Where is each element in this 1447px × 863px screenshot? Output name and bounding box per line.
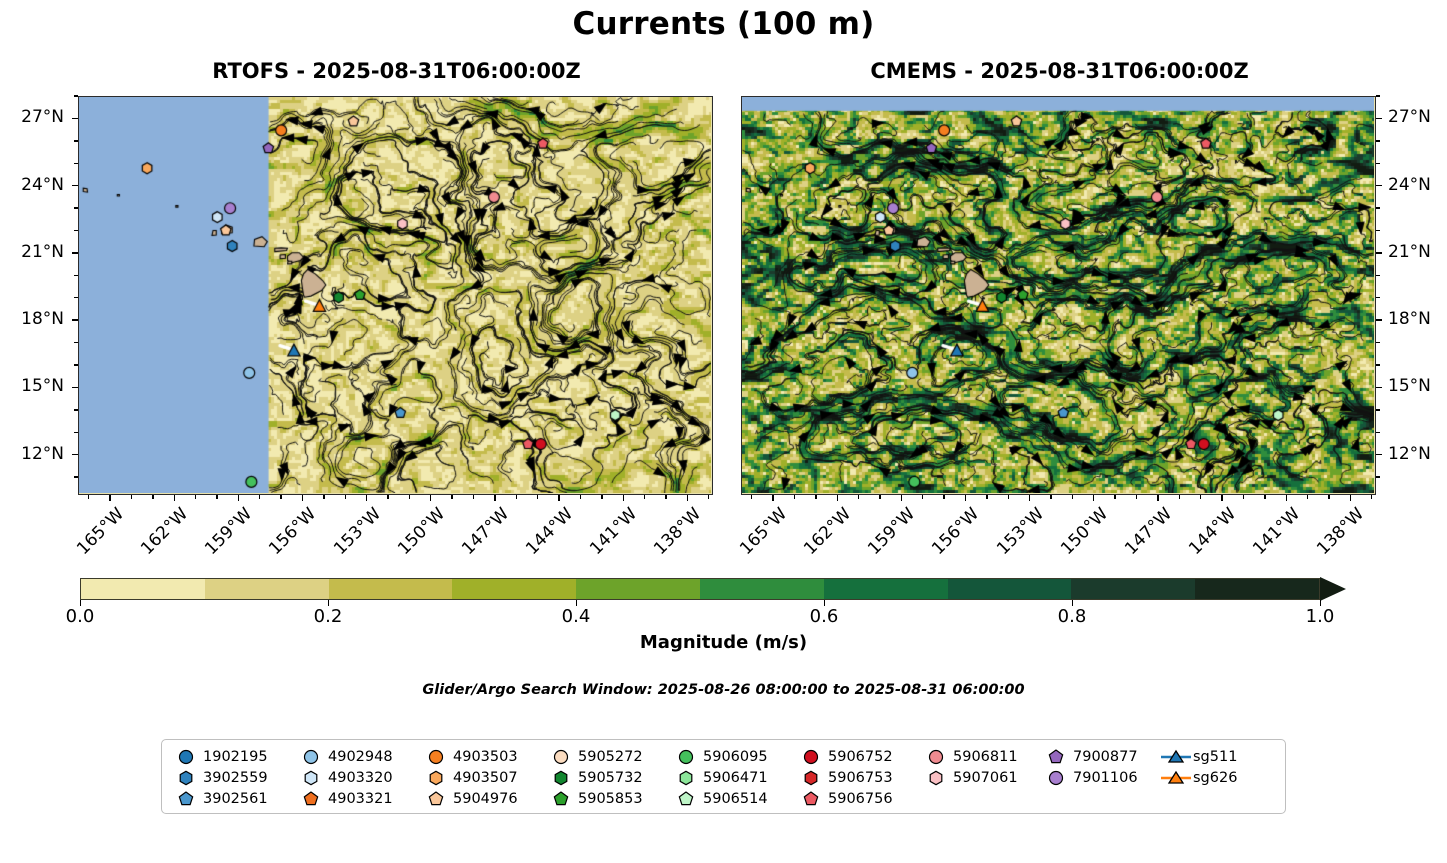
legend-marker-icon bbox=[1159, 767, 1193, 788]
x-tick-label: 159°W bbox=[187, 504, 256, 573]
legend-item-label: 5906514 bbox=[703, 791, 768, 807]
legend-column: 590527259057325905853 bbox=[544, 746, 669, 809]
legend-item-label: 5904976 bbox=[453, 791, 518, 807]
x-tick bbox=[238, 495, 239, 501]
x-tick-label: 150°W bbox=[1043, 504, 1112, 573]
legend-item-label: 5905853 bbox=[578, 791, 643, 807]
x-tick bbox=[837, 495, 838, 501]
x-tick bbox=[109, 495, 110, 501]
y-tick-minor bbox=[1376, 95, 1380, 96]
x-tick-minor bbox=[815, 495, 816, 499]
panel-title-rtofs: RTOFS - 2025-08-31T06:00:00Z bbox=[78, 59, 715, 83]
legend-marker-icon bbox=[669, 746, 703, 767]
y-tick-minor bbox=[1376, 230, 1380, 231]
legend-item-label: 5905272 bbox=[578, 749, 643, 765]
colorbar-segment-8 bbox=[1071, 579, 1195, 599]
legend-item-1902195[interactable]: 1902195 bbox=[169, 746, 294, 767]
y-tick-minor bbox=[1376, 207, 1380, 208]
y-tick-minor bbox=[1376, 163, 1380, 164]
legend-item-5906514[interactable]: 5906514 bbox=[669, 788, 794, 809]
x-tick-label: 159°W bbox=[850, 504, 919, 573]
legend-item-4903503[interactable]: 4903503 bbox=[419, 746, 544, 767]
legend-item-5906811[interactable]: 5906811 bbox=[919, 746, 1039, 767]
colorbar-tick-label: 0.2 bbox=[283, 606, 373, 627]
x-tick bbox=[302, 495, 303, 501]
y-tick bbox=[1376, 118, 1382, 119]
colorbar-tick-label: 0.0 bbox=[35, 606, 125, 627]
legend-item-sg511[interactable]: sg511 bbox=[1159, 746, 1264, 767]
x-tick bbox=[558, 495, 559, 501]
colorbar bbox=[80, 578, 1365, 600]
legend-column: 490294849033204903321 bbox=[294, 746, 419, 809]
y-tick-label: 27°N bbox=[0, 107, 64, 127]
legend-marker-icon bbox=[669, 767, 703, 788]
legend-column: 59068115907061 bbox=[919, 746, 1039, 809]
x-tick-minor bbox=[409, 495, 410, 499]
y-tick-label: 24°N bbox=[0, 175, 64, 195]
legend-item-label: 3902561 bbox=[203, 791, 268, 807]
x-tick-minor bbox=[516, 495, 517, 499]
colorbar-segment-6 bbox=[824, 579, 948, 599]
colorbar-segment-3 bbox=[452, 579, 576, 599]
x-tick bbox=[1350, 495, 1351, 501]
figure-title: Currents (100 m) bbox=[0, 6, 1447, 42]
x-tick-label: 165°W bbox=[59, 504, 128, 573]
y-tick-minor bbox=[74, 275, 78, 276]
x-tick bbox=[901, 495, 902, 501]
x-tick-minor bbox=[794, 495, 795, 499]
legend-item-4903320[interactable]: 4903320 bbox=[294, 767, 419, 788]
legend-marker-icon bbox=[1039, 767, 1073, 788]
x-tick-label: 144°W bbox=[508, 504, 577, 573]
legend-column: 590609559064715906514 bbox=[669, 746, 794, 809]
colorbar-segment-1 bbox=[205, 579, 329, 599]
legend-column: 190219539025593902561 bbox=[169, 746, 294, 809]
y-tick bbox=[1376, 387, 1382, 388]
y-tick bbox=[72, 319, 78, 320]
x-tick-minor bbox=[1114, 495, 1115, 499]
legend-item-sg626[interactable]: sg626 bbox=[1159, 767, 1264, 788]
legend-marker-icon bbox=[419, 788, 453, 809]
legend-item-4903507[interactable]: 4903507 bbox=[419, 767, 544, 788]
legend-item-7900877[interactable]: 7900877 bbox=[1039, 746, 1159, 767]
x-tick-minor bbox=[451, 495, 452, 499]
y-tick-label: 12°N bbox=[1388, 444, 1447, 464]
y-tick bbox=[1376, 319, 1382, 320]
legend-item-label: 5906752 bbox=[828, 749, 893, 765]
x-tick-label: 150°W bbox=[380, 504, 449, 573]
legend-item-label: 1902195 bbox=[203, 749, 268, 765]
legend-marker-icon bbox=[169, 788, 203, 809]
legend-item-label: sg626 bbox=[1193, 770, 1237, 786]
x-tick-minor bbox=[879, 495, 880, 499]
x-tick-minor bbox=[387, 495, 388, 499]
legend-column: 490350349035075904976 bbox=[419, 746, 544, 809]
legend-item-5906756[interactable]: 5906756 bbox=[794, 788, 919, 809]
y-tick-minor bbox=[1376, 275, 1380, 276]
x-tick-minor bbox=[259, 495, 260, 499]
x-tick-label: 156°W bbox=[914, 504, 983, 573]
y-tick-label: 15°N bbox=[1388, 376, 1447, 396]
legend-marker-icon bbox=[919, 767, 953, 788]
legend-marker-icon bbox=[1159, 746, 1193, 767]
x-tick bbox=[965, 495, 966, 501]
legend-item-label: 5906753 bbox=[828, 770, 893, 786]
x-tick-label: 156°W bbox=[251, 504, 320, 573]
x-tick bbox=[1221, 495, 1222, 501]
x-tick-label: 141°W bbox=[1235, 504, 1304, 573]
y-tick-label: 27°N bbox=[1388, 107, 1447, 127]
legend-item-3902561[interactable]: 3902561 bbox=[169, 788, 294, 809]
x-tick-minor bbox=[537, 495, 538, 499]
y-tick-minor bbox=[74, 95, 78, 96]
legend-item-3902559[interactable]: 3902559 bbox=[169, 767, 294, 788]
x-tick-label: 153°W bbox=[978, 504, 1047, 573]
y-tick-minor bbox=[1376, 432, 1380, 433]
map-panel-cmems[interactable] bbox=[741, 96, 1376, 495]
x-tick bbox=[687, 495, 688, 501]
x-tick-minor bbox=[644, 495, 645, 499]
legend-column: 79008777901106 bbox=[1039, 746, 1159, 809]
x-tick-minor bbox=[1136, 495, 1137, 499]
legend-grid: 1902195390255939025614902948490332049033… bbox=[169, 746, 1264, 809]
colorbar-tick-label: 0.6 bbox=[779, 606, 869, 627]
legend-marker-icon bbox=[169, 746, 203, 767]
y-tick bbox=[72, 387, 78, 388]
colorbar-segment-0 bbox=[81, 579, 205, 599]
legend-item-label: 4903507 bbox=[453, 770, 518, 786]
colorbar-tick-label: 0.8 bbox=[1027, 606, 1117, 627]
x-tick-minor bbox=[986, 495, 987, 499]
legend-marker-icon bbox=[294, 767, 328, 788]
colorbar-tick-label: 0.4 bbox=[531, 606, 621, 627]
legend-marker-icon bbox=[794, 767, 828, 788]
legend-marker-icon bbox=[919, 746, 953, 767]
y-tick bbox=[1376, 252, 1382, 253]
x-tick-minor bbox=[708, 495, 709, 499]
legend-item-5905272[interactable]: 5905272 bbox=[544, 746, 669, 767]
y-tick bbox=[1376, 185, 1382, 186]
x-tick-label: 162°W bbox=[123, 504, 192, 573]
x-tick-minor bbox=[1243, 495, 1244, 499]
x-tick-minor bbox=[345, 495, 346, 499]
x-tick bbox=[494, 495, 495, 501]
x-tick-minor bbox=[473, 495, 474, 499]
figure-canvas: Currents (100 m) RTOFS - 2025-08-31T06:0… bbox=[0, 0, 1447, 863]
x-tick-minor bbox=[216, 495, 217, 499]
y-tick bbox=[72, 185, 78, 186]
legend-item-label: 4903320 bbox=[328, 770, 393, 786]
legend-item-4902948[interactable]: 4902948 bbox=[294, 746, 419, 767]
x-tick bbox=[623, 495, 624, 501]
x-tick-minor bbox=[751, 495, 752, 499]
legend-marker-icon bbox=[669, 788, 703, 809]
legend-marker-icon bbox=[419, 746, 453, 767]
legend-item-4903321[interactable]: 4903321 bbox=[294, 788, 419, 809]
x-tick bbox=[1157, 495, 1158, 501]
legend-item-label: 4903503 bbox=[453, 749, 518, 765]
legend-marker-icon bbox=[294, 788, 328, 809]
y-tick-minor bbox=[1376, 409, 1380, 410]
legend-item-5906471[interactable]: 5906471 bbox=[669, 767, 794, 788]
x-tick-minor bbox=[1328, 495, 1329, 499]
y-tick-minor bbox=[74, 364, 78, 365]
x-tick bbox=[366, 495, 367, 501]
legend-item-label: 5906471 bbox=[703, 770, 768, 786]
x-tick-minor bbox=[943, 495, 944, 499]
legend-item-label: 5906811 bbox=[953, 749, 1018, 765]
legend-marker-icon bbox=[544, 788, 578, 809]
x-tick-label: 162°W bbox=[786, 504, 855, 573]
x-tick bbox=[1029, 495, 1030, 501]
x-tick bbox=[1286, 495, 1287, 501]
legend-item-7901106[interactable]: 7901106 bbox=[1039, 767, 1159, 788]
x-tick bbox=[1093, 495, 1094, 501]
y-tick-label: 15°N bbox=[0, 376, 64, 396]
y-tick bbox=[72, 252, 78, 253]
legend-marker-icon bbox=[794, 788, 828, 809]
x-tick-minor bbox=[131, 495, 132, 499]
colorbar-extend-arrow bbox=[1320, 577, 1346, 601]
legend-item-label: 5905732 bbox=[578, 770, 643, 786]
legend-marker-icon bbox=[419, 767, 453, 788]
x-tick-label: 147°W bbox=[444, 504, 513, 573]
y-tick-minor bbox=[1376, 342, 1380, 343]
x-tick-minor bbox=[323, 495, 324, 499]
x-tick-minor bbox=[601, 495, 602, 499]
x-tick-label: 141°W bbox=[572, 504, 641, 573]
legend-box: 1902195390255939025614902948490332049033… bbox=[161, 739, 1286, 814]
legend-item-label: 7901106 bbox=[1073, 770, 1138, 786]
x-tick-minor bbox=[1179, 495, 1180, 499]
y-tick-minor bbox=[74, 342, 78, 343]
x-tick-minor bbox=[1072, 495, 1073, 499]
y-tick-label: 21°N bbox=[0, 242, 64, 262]
y-tick-label: 18°N bbox=[0, 309, 64, 329]
y-tick-minor bbox=[74, 230, 78, 231]
x-tick-label: 138°W bbox=[636, 504, 705, 573]
legend-item-label: sg511 bbox=[1193, 749, 1237, 765]
y-tick-label: 24°N bbox=[1388, 175, 1447, 195]
y-tick-label: 18°N bbox=[1388, 309, 1447, 329]
legend-item-label: 3902559 bbox=[203, 770, 268, 786]
x-tick-minor bbox=[280, 495, 281, 499]
colorbar-label: Magnitude (m/s) bbox=[0, 632, 1447, 653]
x-tick-minor bbox=[1307, 495, 1308, 499]
legend-marker-icon bbox=[794, 746, 828, 767]
x-tick bbox=[174, 495, 175, 501]
y-tick bbox=[72, 118, 78, 119]
x-tick-minor bbox=[195, 495, 196, 499]
x-tick-label: 153°W bbox=[315, 504, 384, 573]
legend-item-5906753[interactable]: 5906753 bbox=[794, 767, 919, 788]
x-tick-minor bbox=[152, 495, 153, 499]
legend-item-5905732[interactable]: 5905732 bbox=[544, 767, 669, 788]
map-panel-rtofs[interactable] bbox=[78, 96, 713, 495]
legend-marker-icon bbox=[294, 746, 328, 767]
y-tick bbox=[1376, 454, 1382, 455]
x-tick-minor bbox=[858, 495, 859, 499]
legend-marker-icon bbox=[169, 767, 203, 788]
x-tick-minor bbox=[1264, 495, 1265, 499]
legend-item-5905853[interactable]: 5905853 bbox=[544, 788, 669, 809]
y-tick-minor bbox=[74, 207, 78, 208]
legend-item-5906752[interactable]: 5906752 bbox=[794, 746, 919, 767]
search-window-text: Glider/Argo Search Window: 2025-08-26 08… bbox=[0, 682, 1447, 698]
colorbar-segment-2 bbox=[329, 579, 453, 599]
legend-item-label: 5907061 bbox=[953, 770, 1018, 786]
colorbar-segment-4 bbox=[576, 579, 700, 599]
y-tick bbox=[72, 454, 78, 455]
legend-marker-icon bbox=[544, 746, 578, 767]
y-tick-minor bbox=[74, 163, 78, 164]
colorbar-segment-7 bbox=[948, 579, 1072, 599]
x-tick-label: 147°W bbox=[1107, 504, 1176, 573]
y-tick-minor bbox=[1376, 297, 1380, 298]
legend-item-label: 5906756 bbox=[828, 791, 893, 807]
panel-title-cmems: CMEMS - 2025-08-31T06:00:00Z bbox=[741, 59, 1378, 83]
legend-item-label: 4902948 bbox=[328, 749, 393, 765]
y-tick-label: 12°N bbox=[0, 444, 64, 464]
x-tick bbox=[430, 495, 431, 501]
x-tick-minor bbox=[922, 495, 923, 499]
colorbar-gradient bbox=[80, 578, 1320, 600]
y-tick-minor bbox=[1376, 476, 1380, 477]
x-tick-label: 165°W bbox=[722, 504, 791, 573]
x-tick-minor bbox=[1200, 495, 1201, 499]
colorbar-segment-5 bbox=[700, 579, 824, 599]
legend-item-5904976[interactable]: 5904976 bbox=[419, 788, 544, 809]
x-tick-minor bbox=[88, 495, 89, 499]
x-tick-minor bbox=[1050, 495, 1051, 499]
colorbar-tick-label: 1.0 bbox=[1275, 606, 1365, 627]
legend-column: 590675259067535906756 bbox=[794, 746, 919, 809]
y-tick-minor bbox=[74, 432, 78, 433]
legend-marker-icon bbox=[1039, 746, 1073, 767]
x-tick-label: 138°W bbox=[1299, 504, 1368, 573]
legend-item-label: 7900877 bbox=[1073, 749, 1138, 765]
legend-item-5906095[interactable]: 5906095 bbox=[669, 746, 794, 767]
legend-item-5907061[interactable]: 5907061 bbox=[919, 767, 1039, 788]
y-tick-minor bbox=[74, 409, 78, 410]
y-tick-minor bbox=[74, 297, 78, 298]
x-tick bbox=[772, 495, 773, 501]
x-tick-minor bbox=[665, 495, 666, 499]
colorbar-segment-9 bbox=[1195, 579, 1319, 599]
y-tick-minor bbox=[74, 476, 78, 477]
legend-item-label: 4903321 bbox=[328, 791, 393, 807]
y-tick-minor bbox=[1376, 140, 1380, 141]
x-tick-minor bbox=[1008, 495, 1009, 499]
x-tick-minor bbox=[580, 495, 581, 499]
legend-marker-icon bbox=[544, 767, 578, 788]
legend-item-label: 5906095 bbox=[703, 749, 768, 765]
y-tick-minor bbox=[1376, 364, 1380, 365]
y-tick-label: 21°N bbox=[1388, 242, 1447, 262]
y-tick-minor bbox=[74, 140, 78, 141]
x-tick-minor bbox=[1371, 495, 1372, 499]
x-tick-label: 144°W bbox=[1171, 504, 1240, 573]
legend-column: sg511sg626 bbox=[1159, 746, 1264, 809]
